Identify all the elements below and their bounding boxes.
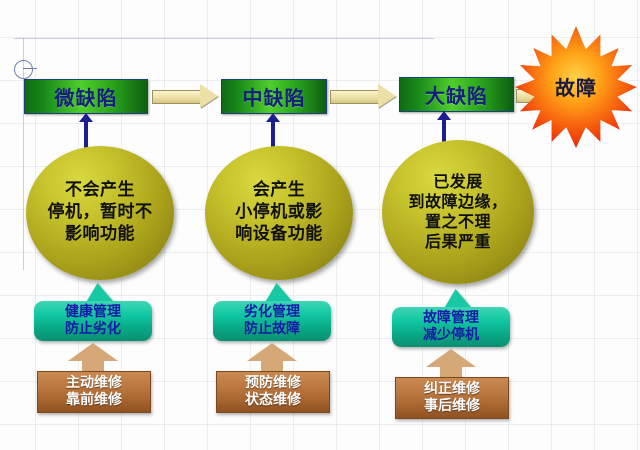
management-text: 健康管理防止劣化 xyxy=(65,304,121,339)
arrow-head xyxy=(200,84,218,108)
failure-starburst[interactable]: 故障 xyxy=(515,26,637,148)
maintenance-text: 纠正维修事后维修 xyxy=(424,381,480,416)
right-arrow-icon-stage1-to-stage2 xyxy=(152,84,218,108)
guide-line-horizontal xyxy=(14,38,434,39)
up-arrow-icon-maint1-to-mgmt1 xyxy=(68,343,118,373)
management-text: 故障管理减少停机 xyxy=(423,310,479,345)
right-arrow-icon-stage2-to-stage3 xyxy=(330,84,396,108)
guide-handle-circle xyxy=(14,60,33,79)
stage-box-major-defect[interactable]: 大缺陷 xyxy=(399,77,514,112)
description-ellipse-major[interactable]: 已发展到故障边缘，置之不理后果严重 xyxy=(382,140,534,284)
description-ellipse-medium[interactable]: 会产生小停机或影响设备功能 xyxy=(205,146,353,280)
description-text: 已发展到故障边缘，置之不理后果严重 xyxy=(408,172,507,253)
failure-label: 故障 xyxy=(555,72,597,101)
management-callout-health[interactable]: 健康管理防止劣化 xyxy=(34,293,152,341)
maintenance-text: 主动维修靠前维修 xyxy=(66,375,122,410)
callout-body: 劣化管理防止故障 xyxy=(213,301,331,341)
stage-box-minor-defect[interactable]: 微缺陷 xyxy=(24,79,148,114)
stage-box-medium-defect[interactable]: 中缺陷 xyxy=(221,79,327,114)
guide-tick xyxy=(23,68,37,69)
up-arrow-icon-maint2-to-mgmt2 xyxy=(247,343,297,373)
maintenance-box-proactive[interactable]: 主动维修靠前维修 xyxy=(37,371,151,413)
description-text: 会产生小停机或影响设备功能 xyxy=(235,180,323,245)
maintenance-text: 预防维修状态维修 xyxy=(245,375,301,410)
description-text: 不会产生停机，暂时不影响功能 xyxy=(48,180,153,245)
stage-label: 中缺陷 xyxy=(243,82,306,111)
arrow-head xyxy=(247,343,297,361)
diagram-canvas: 微缺陷 中缺陷 大缺陷 故障 不会产生停机，暂时不影响功能 会产生 xyxy=(0,0,640,450)
arrow-head xyxy=(426,349,476,367)
arrow-head xyxy=(68,343,118,361)
management-text: 劣化管理防止故障 xyxy=(244,304,300,339)
arrow-head xyxy=(378,84,396,108)
arrow-shaft xyxy=(330,90,379,104)
maintenance-box-preventive[interactable]: 预防维修状态维修 xyxy=(216,371,330,413)
callout-body: 故障管理减少停机 xyxy=(392,307,510,347)
maintenance-box-corrective[interactable]: 纠正维修事后维修 xyxy=(395,377,509,419)
stage-label: 大缺陷 xyxy=(425,80,488,109)
stage-label: 微缺陷 xyxy=(55,82,118,111)
description-ellipse-minor[interactable]: 不会产生停机，暂时不影响功能 xyxy=(26,146,174,280)
up-arrow-icon-maint3-to-mgmt3 xyxy=(426,349,476,379)
management-callout-degradation[interactable]: 劣化管理防止故障 xyxy=(213,293,331,341)
callout-body: 健康管理防止劣化 xyxy=(34,301,152,341)
management-callout-failure[interactable]: 故障管理减少停机 xyxy=(392,299,510,347)
arrow-shaft xyxy=(152,90,201,104)
